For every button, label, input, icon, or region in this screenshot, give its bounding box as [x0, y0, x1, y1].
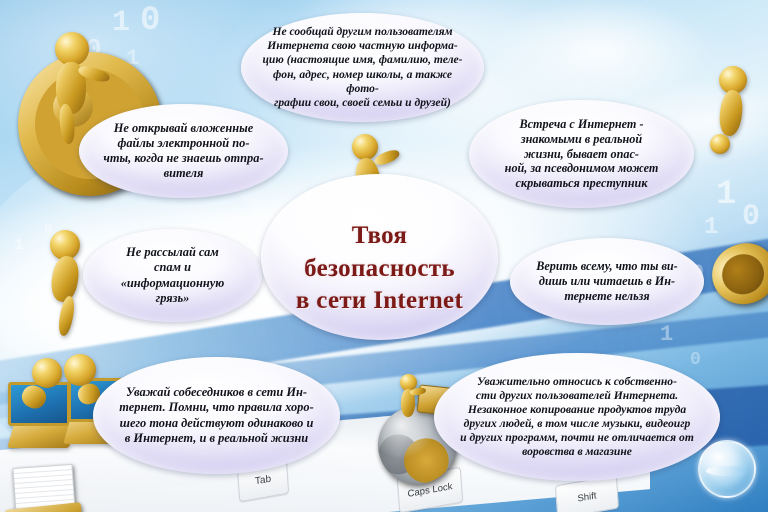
tip-line: Уважительно относись к собственно-	[454, 375, 700, 389]
tip-line: грязь»	[103, 291, 242, 306]
page-title: Твоя безопасность в сети Internet	[281, 220, 478, 318]
tip-line: знакомыми в реальной	[489, 132, 674, 147]
keyboard-key-capslock: Caps Lock	[397, 467, 463, 512]
laptop-base	[7, 414, 79, 448]
tip-line: и других программ, почти не отличается о…	[454, 431, 700, 445]
gold-figure-torso	[401, 389, 415, 417]
gold-figure-head	[32, 358, 62, 388]
binary-digit: 1	[6, 330, 15, 347]
gold-figure-arm	[373, 148, 401, 168]
tip-line: дишь или читаешь в Ин-	[530, 274, 684, 289]
tip-line: в Интернет, и в реальной жизни	[113, 431, 320, 446]
gold-figure-torso	[718, 89, 745, 137]
tip-line: графии свои, своей семьи и друзей)	[261, 96, 464, 110]
gold-figure-torso	[49, 254, 81, 303]
gold-figure-head	[50, 230, 80, 260]
tip-line: Незаконное копирование продуктов труда	[454, 403, 700, 417]
tip-line: жизни, бывает опас-	[489, 147, 674, 162]
tip-text: Встреча с Интернет - знакомыми в реально…	[489, 117, 674, 191]
tip-bubble-respect-others: Уважай собеседников в сети Ин- тернет. П…	[93, 357, 340, 474]
gold-figure-torso	[56, 62, 86, 114]
binary-digit: 0	[728, 244, 744, 274]
gold-figure-foot	[710, 134, 730, 154]
title-line: Твоя	[281, 220, 478, 253]
gold-figure-head	[64, 354, 96, 386]
tip-line: чты, когда не знаешь отпра-	[99, 151, 268, 166]
tip-line: Не сообщай другим пользователям	[261, 25, 464, 39]
gold-figure-head	[719, 66, 747, 94]
title-line: в сети Internet	[281, 285, 478, 318]
tip-line: файлы электронной по-	[99, 136, 268, 151]
tip-text: Уважай собеседников в сети Ин- тернет. П…	[113, 385, 320, 446]
tip-line: спам и	[103, 260, 242, 275]
tip-line: «информационную	[103, 276, 242, 291]
tip-line: Интернета свою частную информа-	[261, 39, 464, 53]
tip-line: сти других пользователей Интернета.	[454, 389, 700, 403]
tip-text: Не открывай вложенные файлы электронной …	[99, 121, 268, 182]
binary-digit: 1	[704, 214, 718, 241]
tip-line: скрываться преступник	[489, 176, 674, 191]
tip-line: Не открывай вложенные	[99, 121, 268, 136]
tip-line: фон, адрес, номер школы, а также фото-	[261, 68, 464, 96]
globe-logo-icon	[698, 440, 756, 498]
tip-bubble-email-attachments: Не открывай вложенные файлы электронной …	[79, 104, 288, 198]
gold-figure-head	[352, 134, 378, 160]
binary-digit: 0	[690, 350, 701, 370]
tip-text: Уважительно относись к собственно- сти д…	[454, 375, 700, 460]
binary-digit: 1	[716, 176, 736, 214]
binary-digit: 0	[140, 2, 160, 40]
binary-digit: 1	[112, 6, 130, 40]
tip-line: Не рассылай сам	[103, 245, 242, 260]
gold-figure-leg	[58, 103, 76, 144]
tip-text: Верить всему, что ты ви- дишь или читаеш…	[530, 259, 684, 304]
binary-digit: 0	[742, 200, 760, 234]
tip-bubble-respect-property: Уважительно относись к собственно- сти д…	[434, 353, 720, 481]
binary-digit: 0	[86, 34, 102, 64]
binary-digit: 1	[126, 46, 139, 71]
tip-line: ной, за псевдонимом может	[489, 161, 674, 176]
safety-poster: 1 0 0 1 1 0 1 0 0 1 0 1 1 0 Tab Caps Loc…	[0, 0, 768, 512]
binary-digit: 1	[14, 236, 24, 254]
binary-digit: 1	[660, 322, 673, 347]
tip-line: вителя	[99, 166, 268, 181]
tip-bubble-dont-believe-everything: Верить всему, что ты ви- дишь или читаеш…	[510, 238, 704, 325]
tip-line: тернете нельзя	[530, 289, 684, 304]
tip-line: Встреча с Интернет -	[489, 117, 674, 132]
gold-figure-arm	[77, 64, 111, 84]
gold-figure-arm	[410, 387, 427, 397]
tip-line: воровства в магазине	[454, 445, 700, 459]
binary-digit: 0	[44, 222, 52, 238]
tip-line: цию (настоящие имя, фамилию, теле-	[261, 53, 464, 67]
gold-figure-head	[400, 374, 417, 391]
tip-line: тернет. Помни, что правила хоро-	[113, 400, 320, 415]
gold-figure-leg	[57, 295, 77, 337]
tip-bubble-no-spam: Не рассылай сам спам и «информационную г…	[83, 229, 262, 322]
tip-line: Верить всему, что ты ви-	[530, 259, 684, 274]
title-line: безопасность	[281, 253, 478, 286]
gold-figure-arm	[19, 382, 50, 412]
tip-line: других людей, в том числе музыки, видеои…	[454, 417, 700, 431]
poster-title-bubble: Твоя безопасность в сети Internet	[261, 174, 498, 340]
tip-bubble-meeting-strangers: Встреча с Интернет - знакомыми в реально…	[469, 100, 694, 208]
tip-line: шего тона действуют одинаково и	[113, 416, 320, 431]
tip-text: Не рассылай сам спам и «информационную г…	[103, 245, 242, 306]
tip-text: Не сообщай другим пользователям Интернет…	[261, 25, 464, 110]
gold-figure-head	[55, 32, 89, 66]
laptop-screen	[8, 382, 70, 426]
tip-bubble-private-info: Не сообщай другим пользователям Интернет…	[241, 13, 484, 122]
tip-line: Уважай собеседников в сети Ин-	[113, 385, 320, 400]
